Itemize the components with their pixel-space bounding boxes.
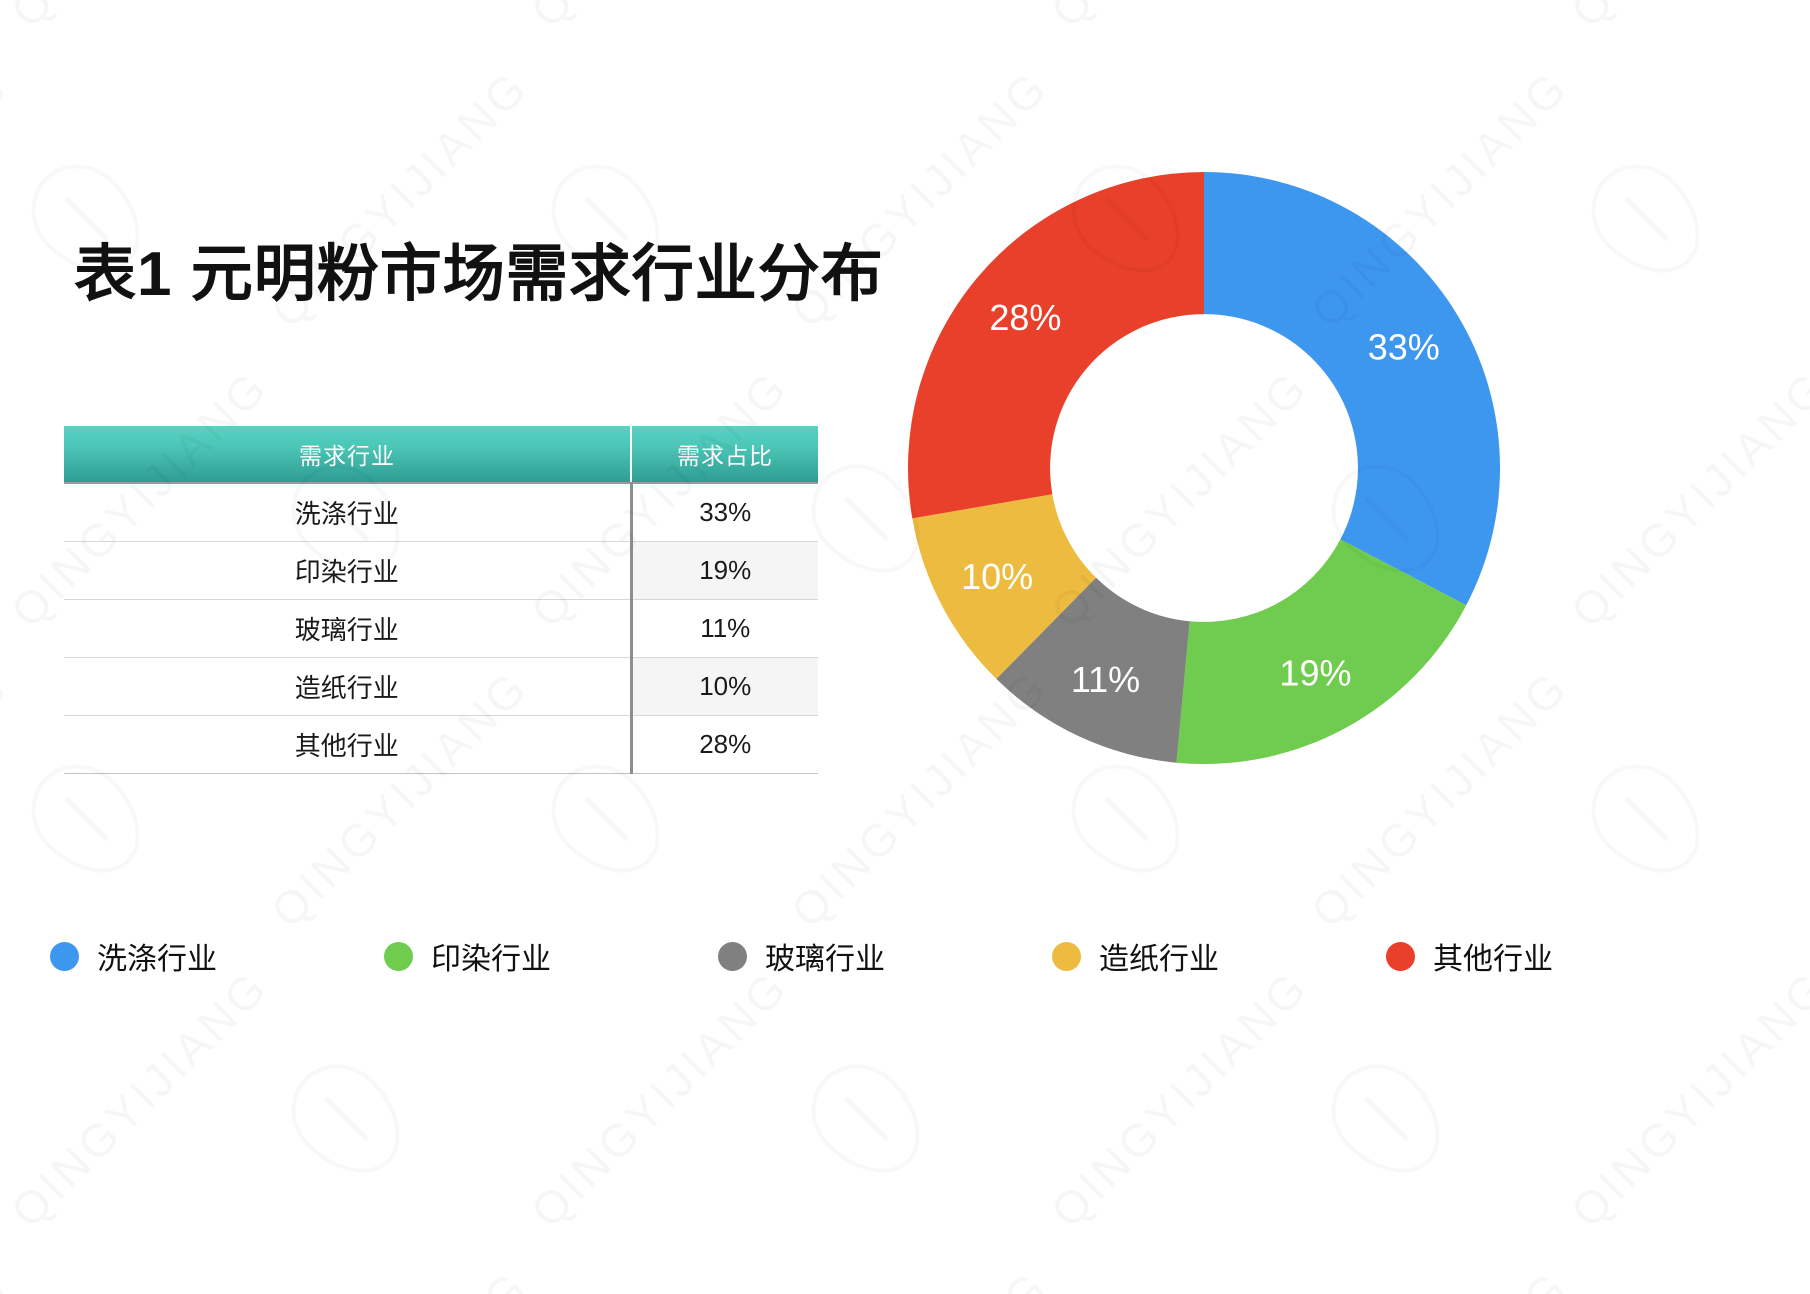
legend-swatch-icon bbox=[718, 942, 747, 971]
legend-item[interactable]: 玻璃行业 bbox=[718, 934, 1052, 978]
legend-item[interactable]: 印染行业 bbox=[384, 934, 718, 978]
legend-item[interactable]: 洗涤行业 bbox=[50, 934, 384, 978]
table-row: 其他行业28% bbox=[64, 716, 818, 774]
table-body: 洗涤行业33%印染行业19%玻璃行业11%造纸行业10%其他行业28% bbox=[64, 483, 818, 774]
table-header-share: 需求占比 bbox=[631, 426, 818, 483]
demand-distribution-table: 需求行业 需求占比 洗涤行业33%印染行业19%玻璃行业11%造纸行业10%其他… bbox=[64, 426, 818, 774]
legend-swatch-icon bbox=[1386, 942, 1415, 971]
legend-swatch-icon bbox=[1052, 942, 1081, 971]
donut-slice bbox=[908, 172, 1204, 518]
table-cell-industry: 玻璃行业 bbox=[64, 600, 631, 658]
donut-slice-label: 11% bbox=[1071, 659, 1140, 700]
donut-slice-label: 33% bbox=[1368, 327, 1440, 368]
legend-swatch-icon bbox=[50, 942, 79, 971]
table-cell-industry: 印染行业 bbox=[64, 542, 631, 600]
table-cell-industry: 造纸行业 bbox=[64, 658, 631, 716]
donut-slice-group bbox=[908, 172, 1500, 764]
table-cell-share: 28% bbox=[631, 716, 818, 774]
table-row: 洗涤行业33% bbox=[64, 483, 818, 542]
table-cell-industry: 其他行业 bbox=[64, 716, 631, 774]
donut-chart-svg: 33%19%11%10%28% bbox=[908, 172, 1500, 764]
legend-item[interactable]: 造纸行业 bbox=[1052, 934, 1386, 978]
donut-chart: 33%19%11%10%28% bbox=[908, 172, 1500, 764]
table-cell-industry: 洗涤行业 bbox=[64, 483, 631, 542]
table-cell-share: 10% bbox=[631, 658, 818, 716]
donut-slice bbox=[1204, 172, 1500, 605]
legend-label: 造纸行业 bbox=[1099, 934, 1219, 978]
table-row: 玻璃行业11% bbox=[64, 600, 818, 658]
table-head: 需求行业 需求占比 bbox=[64, 426, 818, 483]
infographic-canvas: 表1 元明粉市场需求行业分布 需求行业 需求占比 洗涤行业33%印染行业19%玻… bbox=[0, 0, 1810, 1294]
table-row: 造纸行业10% bbox=[64, 658, 818, 716]
table-header-industry: 需求行业 bbox=[64, 426, 631, 483]
table-cell-share: 11% bbox=[631, 600, 818, 658]
table-header-row: 需求行业 需求占比 bbox=[64, 426, 818, 483]
legend-item[interactable]: 其他行业 bbox=[1386, 934, 1553, 978]
donut-slice-label: 28% bbox=[989, 297, 1061, 338]
table-cell-share: 19% bbox=[631, 542, 818, 600]
legend-swatch-icon bbox=[384, 942, 413, 971]
legend-label: 其他行业 bbox=[1433, 934, 1553, 978]
legend-label: 玻璃行业 bbox=[765, 934, 885, 978]
donut-slice-label: 10% bbox=[961, 556, 1033, 597]
legend-label: 印染行业 bbox=[431, 934, 551, 978]
legend-label: 洗涤行业 bbox=[97, 934, 217, 978]
table-row: 印染行业19% bbox=[64, 542, 818, 600]
donut-slice-label: 19% bbox=[1279, 653, 1351, 694]
table-cell-share: 33% bbox=[631, 483, 818, 542]
page-title: 表1 元明粉市场需求行业分布 bbox=[74, 238, 884, 312]
chart-legend: 洗涤行业印染行业玻璃行业造纸行业其他行业 bbox=[50, 934, 1470, 978]
